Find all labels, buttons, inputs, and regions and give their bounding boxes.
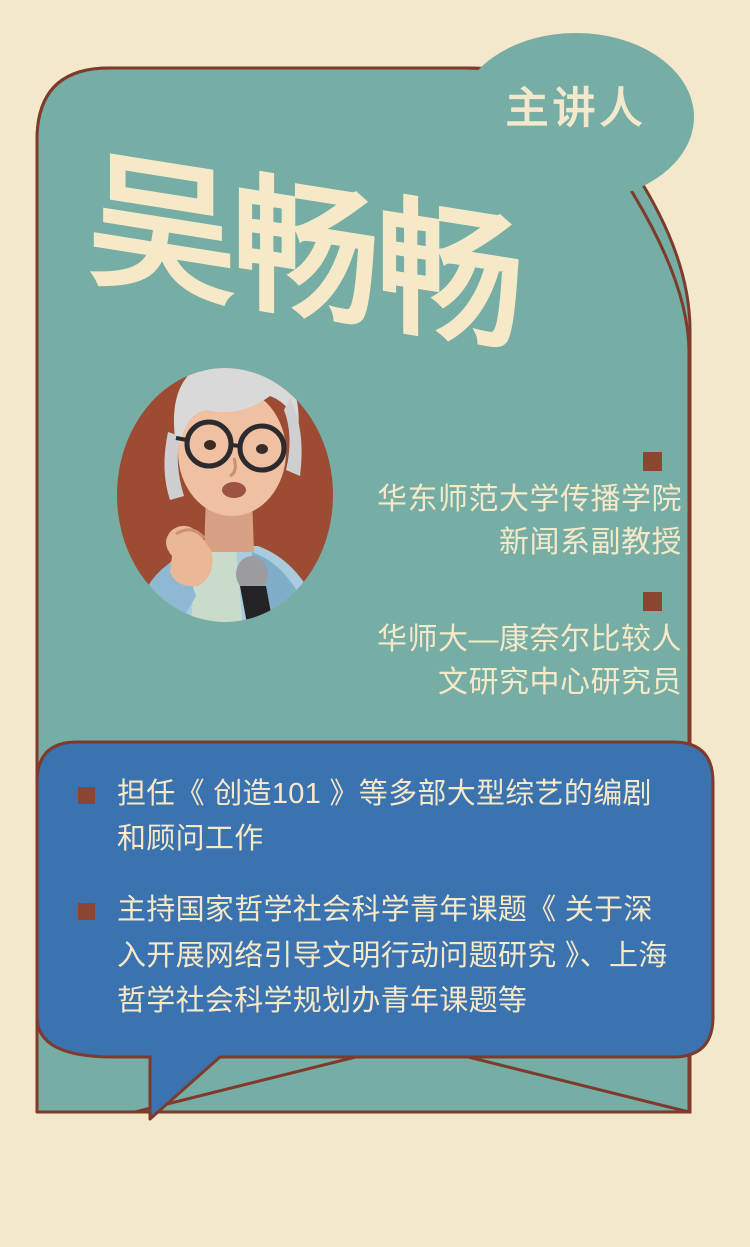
credential-item: 华东师范大学传播学院 新闻系副教授: [352, 452, 682, 564]
achievements-list: 担任《 创造101 》等多部大型综艺的编剧和顾问工作 主持国家哲学社会科学青年课…: [78, 772, 678, 1024]
square-marker-icon: [643, 592, 662, 611]
achievement-item: 担任《 创造101 》等多部大型综艺的编剧和顾问工作: [78, 772, 678, 862]
credential-line: 华东师范大学传播学院: [352, 479, 682, 522]
speech-bubble-label: 主讲人: [466, 88, 686, 131]
achievement-text: 担任《 创造101 》等多部大型综艺的编剧和顾问工作: [117, 772, 678, 862]
achievement-item: 主持国家哲学社会科学青年课题《 关于深入开展网络引导文明行动问题研究 》、上海哲…: [78, 888, 678, 1024]
square-marker-icon: [78, 903, 95, 920]
square-marker-icon: [643, 452, 662, 471]
achievement-text: 主持国家哲学社会科学青年课题《 关于深入开展网络引导文明行动问题研究 》、上海哲…: [117, 888, 678, 1024]
credential-line: 华师大—康奈尔比较人: [352, 619, 682, 662]
square-marker-icon: [78, 787, 95, 804]
credentials-list: 华东师范大学传播学院 新闻系副教授 华师大—康奈尔比较人 文研究中心研究员: [352, 452, 682, 704]
speaker-profile-poster: 主讲人 吴畅畅 华东师范大学传播学院 新闻系副教授 华师大—康奈尔比较人 文研究…: [0, 0, 750, 1247]
credential-item: 华师大—康奈尔比较人 文研究中心研究员: [352, 592, 682, 704]
credential-line: 新闻系副教授: [352, 522, 682, 565]
credential-line: 文研究中心研究员: [352, 662, 682, 705]
